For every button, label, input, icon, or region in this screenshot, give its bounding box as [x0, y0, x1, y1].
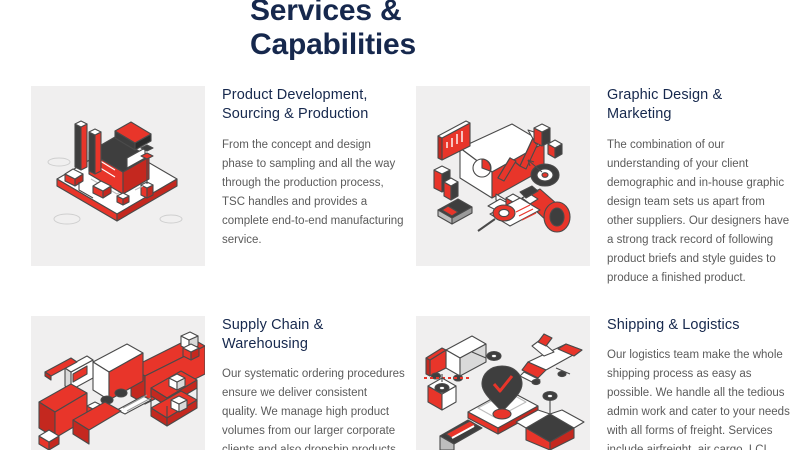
card-description: The combination of our understanding of … [607, 136, 790, 288]
services-grid: Product Development, Sourcing & Producti… [0, 0, 800, 450]
card-body: Shipping & Logistics Our logistics team … [607, 316, 790, 450]
card-body: Product Development, Sourcing & Producti… [222, 86, 405, 250]
shipping-logistics-icon [416, 316, 590, 450]
warehouse-illustration [31, 316, 205, 450]
services-capabilities-section: Services & Capabilities [0, 0, 800, 450]
card-title: Product Development, Sourcing & Producti… [222, 86, 405, 124]
logistics-illustration [416, 316, 590, 450]
card-description: From the concept and design phase to sam… [222, 136, 405, 250]
card-body: Supply Chain & Warehousing Our systemati… [222, 316, 405, 450]
warehouse-truck-icon [31, 316, 205, 450]
card-description: Our logistics team make the whole shippi… [607, 346, 790, 450]
factory-illustration [31, 86, 205, 266]
card-body: Graphic Design & Marketing The combinati… [607, 86, 790, 288]
card-description: Our systematic ordering procedures ensur… [222, 365, 405, 450]
marketing-analytics-icon [416, 86, 590, 266]
marketing-illustration [416, 86, 590, 266]
card-title: Shipping & Logistics [607, 316, 790, 335]
factory-icon [31, 86, 205, 266]
card-title: Graphic Design & Marketing [607, 86, 790, 124]
card-title: Supply Chain & Warehousing [222, 316, 405, 354]
